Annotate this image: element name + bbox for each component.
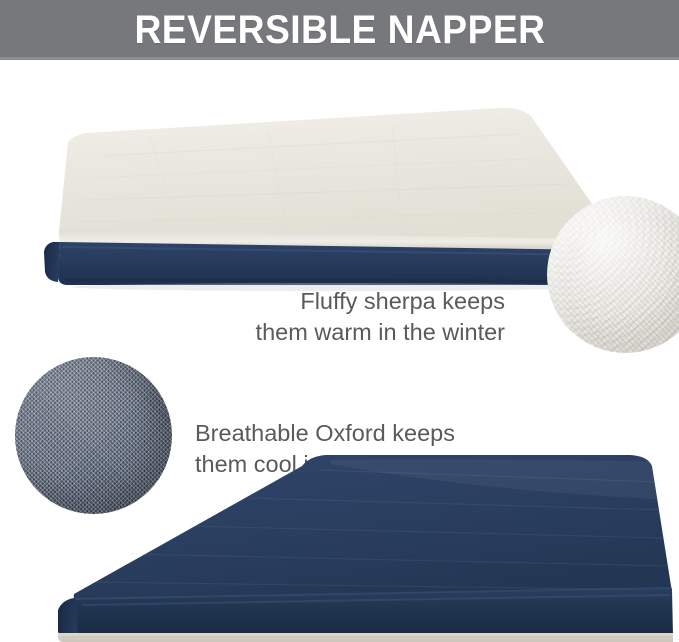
navy-band-base-shadow <box>64 280 596 281</box>
sherpa-caption-line-1: Fluffy sherpa keeps <box>200 286 505 317</box>
dog-bed-oxford-side-up <box>0 440 679 642</box>
bed-left-endcap-navy <box>44 242 60 282</box>
header-banner: REVERSIBLE NAPPER <box>0 0 679 60</box>
product-infographic: REVERSIBLE NAPPER <box>0 0 679 642</box>
page-title: REVERSIBLE NAPPER <box>134 10 545 50</box>
sherpa-caption: Fluffy sherpa keeps them warm in the win… <box>200 286 505 349</box>
bed-left-corner-navy-bottom <box>58 598 78 636</box>
sherpa-caption-line-2: them warm in the winter <box>200 317 505 348</box>
